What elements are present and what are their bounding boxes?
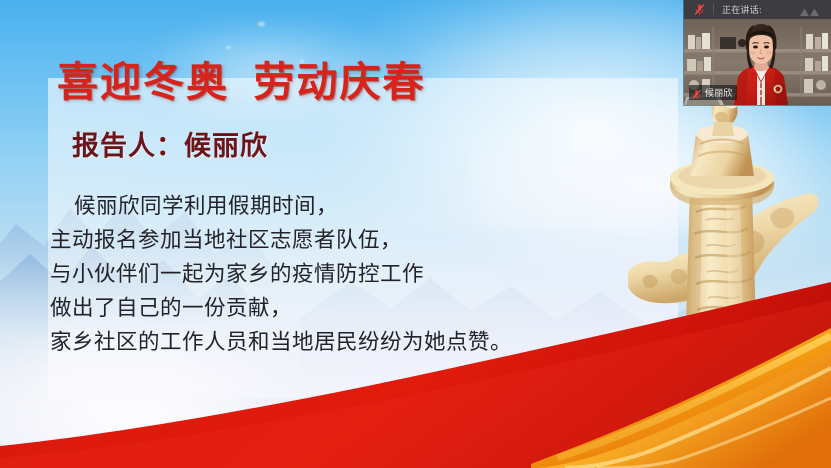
light-speck <box>226 46 231 49</box>
page-title: 喜迎冬奥 劳动庆春 <box>57 62 426 103</box>
body-text-block: 候丽欣同学利用假期时间， 主动报名参加当地社区志愿者队伍， 与小伙伴们一起为家乡… <box>50 190 650 360</box>
body-line: 候丽欣同学利用假期时间， <box>50 190 650 224</box>
light-speck <box>258 22 265 26</box>
microphone-icon <box>693 3 706 16</box>
presenter-subtitle: 报告人：候丽欣 <box>72 133 268 160</box>
video-conference-panel[interactable]: 正在讲话: <box>684 0 831 105</box>
video-panel-header: 正在讲话: <box>684 0 831 19</box>
header-divider <box>713 4 714 15</box>
presentation-screen: 喜迎冬奥 劳动庆春 报告人：候丽欣 候丽欣同学利用假期时间， 主动报名参加当地社… <box>0 0 831 468</box>
speaker-name: 候丽欣 <box>705 86 733 99</box>
body-line: 主动报名参加当地社区志愿者队伍， <box>50 224 650 258</box>
microphone-icon <box>691 87 702 98</box>
body-line: 做出了自己的一份贡献， <box>50 292 650 326</box>
body-line: 与小伙伴们一起为家乡的疫情防控工作 <box>50 258 650 292</box>
video-feed[interactable]: 候丽欣 <box>684 19 831 105</box>
speaking-status-label: 正在讲话: <box>722 3 762 16</box>
signal-bars-icon[interactable] <box>799 4 823 15</box>
body-line: 家乡社区的工作人员和当地居民纷纷为她点赞。 <box>50 326 650 360</box>
speaker-name-badge: 候丽欣 <box>689 85 737 100</box>
